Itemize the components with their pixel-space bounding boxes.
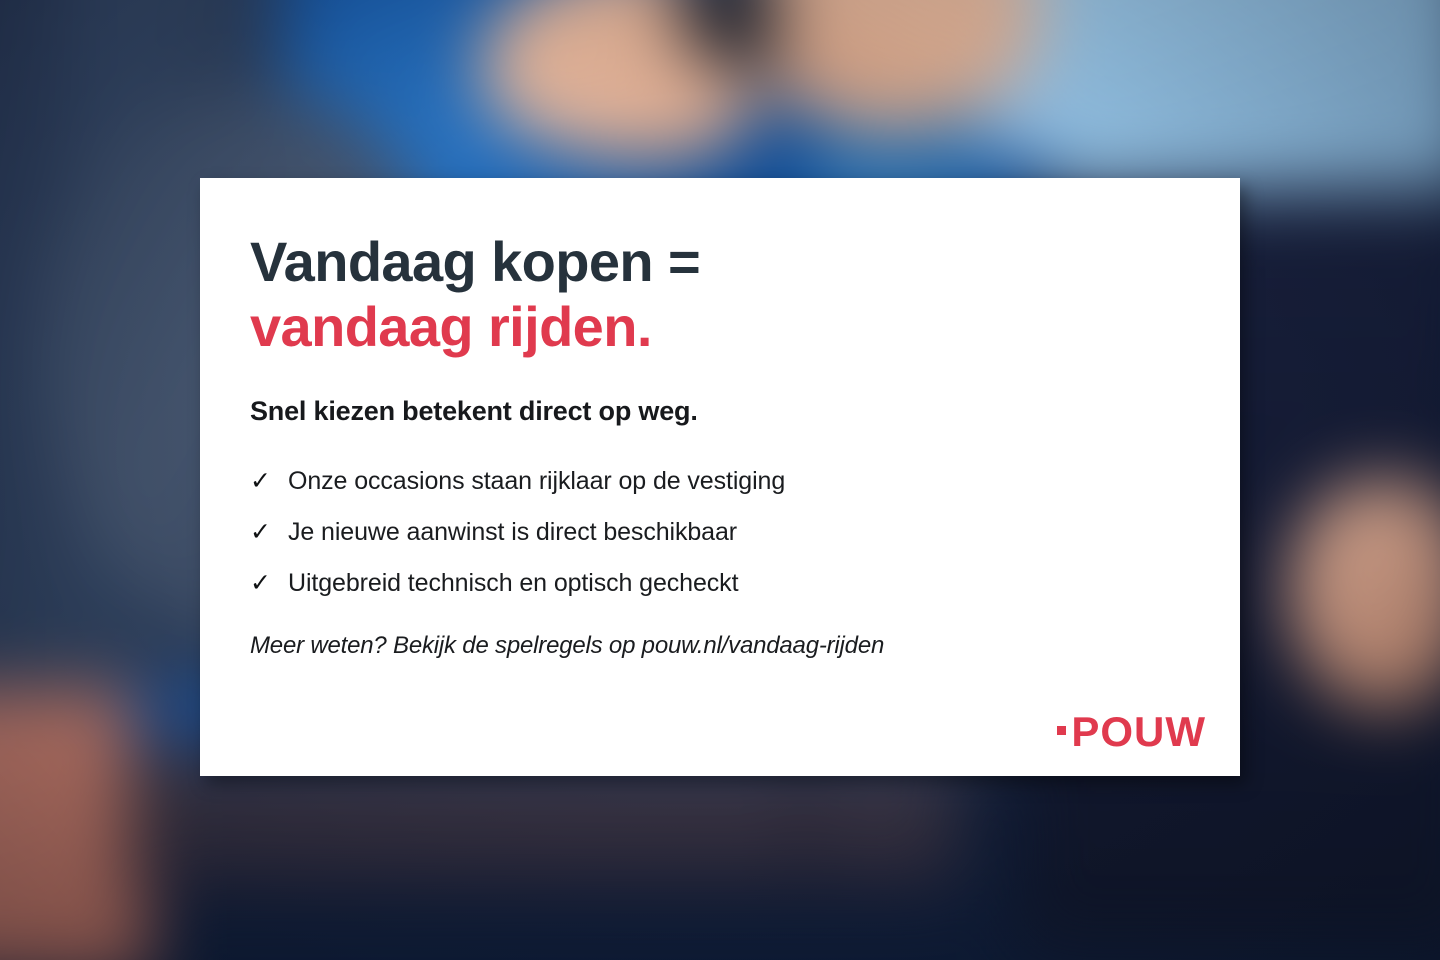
check-icon: ✓ [250, 571, 272, 596]
subheadline: Snel kiezen betekent direct op weg. [250, 396, 1186, 427]
page-title: Vandaag kopen = vandaag rijden. [250, 230, 1186, 360]
check-icon: ✓ [250, 520, 272, 545]
benefit-text: Onze occasions staan rijklaar op de vest… [288, 467, 785, 496]
benefit-text: Je nieuwe aanwinst is direct beschikbaar [288, 518, 737, 547]
promo-card: Vandaag kopen = vandaag rijden. Snel kie… [200, 178, 1240, 776]
pouw-logo: POUW [1057, 708, 1206, 756]
logo-dot-icon [1057, 726, 1066, 735]
list-item: ✓ Onze occasions staan rijklaar op de ve… [250, 467, 1186, 496]
list-item: ✓ Uitgebreid technisch en optisch gechec… [250, 569, 1186, 598]
list-item: ✓ Je nieuwe aanwinst is direct beschikba… [250, 518, 1186, 547]
benefit-list: ✓ Onze occasions staan rijklaar op de ve… [250, 467, 1186, 598]
promo-banner: Vandaag kopen = vandaag rijden. Snel kie… [0, 0, 1440, 960]
logo-wordmark: POUW [1071, 708, 1206, 756]
headline-line-1: Vandaag kopen = [250, 230, 1186, 295]
check-icon: ✓ [250, 469, 272, 494]
footnote-link-text[interactable]: Meer weten? Bekijk de spelregels op pouw… [250, 632, 1186, 660]
benefit-text: Uitgebreid technisch en optisch gecheckt [288, 569, 738, 598]
headline-line-2: vandaag rijden. [250, 295, 1186, 360]
salmon-garment-left [0, 690, 150, 960]
